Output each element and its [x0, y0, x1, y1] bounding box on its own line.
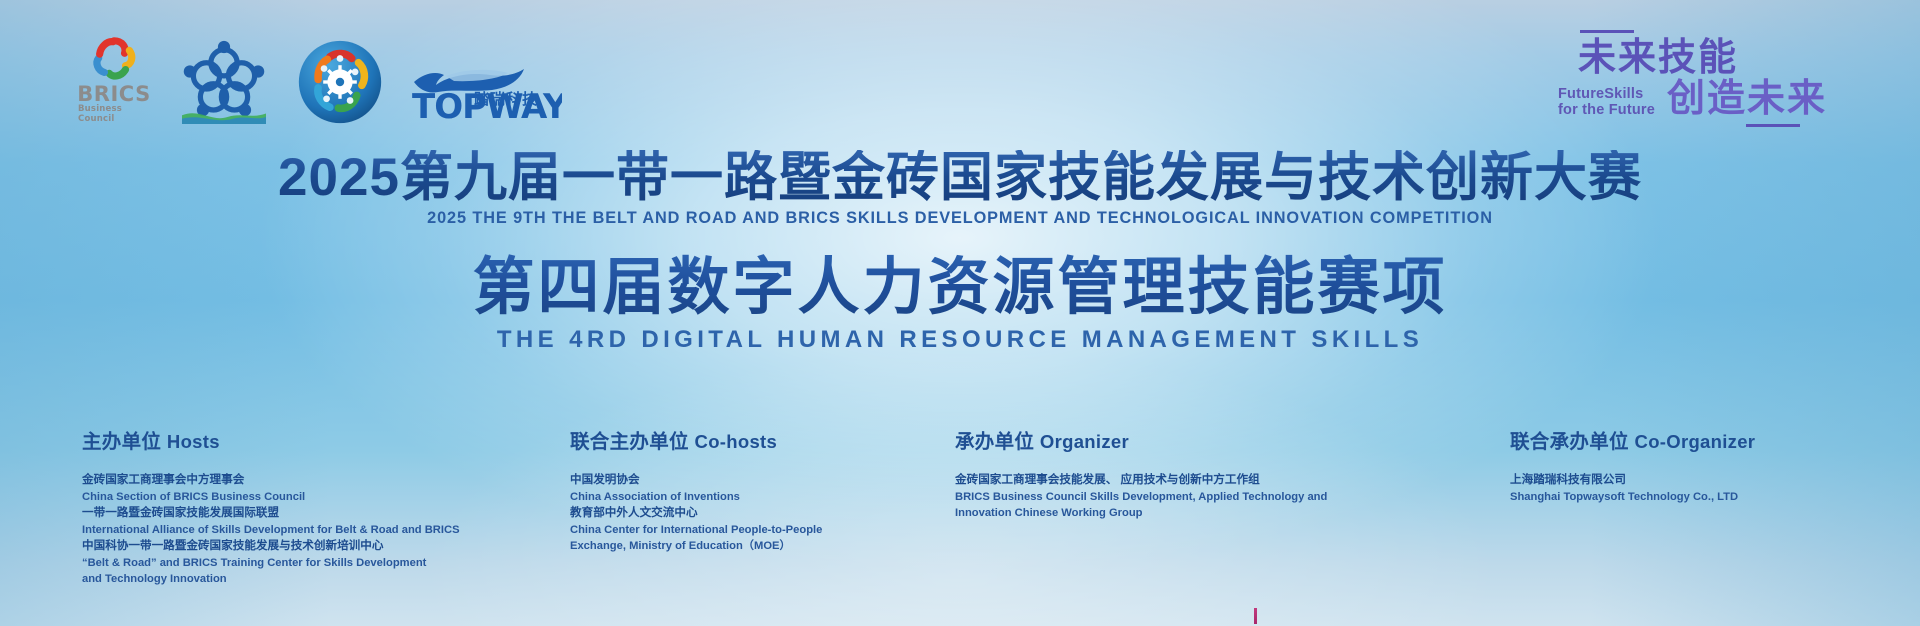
- credit-heading-cn: 联合承办单位: [1510, 431, 1629, 453]
- slogan-cn-line1: 未来技能: [1578, 38, 1858, 78]
- credit-line: China Center for International People-to…: [570, 522, 970, 539]
- topway-logo: TOPWAY 踏瑞科技: [412, 62, 562, 124]
- credit-heading: 主办单位 Hosts: [82, 425, 512, 454]
- slogan-top-rule: [1580, 30, 1634, 33]
- brics-sub-wordmark: Business Council: [78, 104, 150, 124]
- credit-line: 中国发明协会: [570, 472, 970, 489]
- main-title-cn: 2025第九届一带一路暨金砖国家技能发展与技术创新大赛: [0, 150, 1920, 206]
- credit-column-organizer: 承办单位 Organizer 金砖国家工商理事会技能发展、 应用技术与创新中方工…: [955, 425, 1395, 522]
- credit-heading-en: Co-hosts: [695, 431, 778, 452]
- credit-line: China Section of BRICS Business Council: [82, 489, 512, 506]
- credit-line: 中国科协一带一路暨金砖国家技能发展与技术创新培训中心: [82, 538, 512, 555]
- credit-line: “Belt & Road” and BRICS Training Center …: [82, 555, 512, 572]
- credit-heading: 联合承办单位 Co-Organizer: [1510, 425, 1910, 454]
- credit-line: 上海踏瑞科技有限公司: [1510, 472, 1910, 489]
- credit-heading-cn: 主办单位: [82, 431, 161, 453]
- credit-heading-en: Organizer: [1040, 431, 1129, 452]
- slogan-en-line1: FutureSkills: [1558, 86, 1655, 102]
- credit-line: 金砖国家工商理事会技能发展、 应用技术与创新中方工作组: [955, 472, 1395, 489]
- credit-heading-en: Hosts: [167, 431, 220, 452]
- credit-line: 教育部中外人文交流中心: [570, 505, 970, 522]
- credit-heading-en: Co-Organizer: [1635, 431, 1756, 452]
- credit-column-hosts: 主办单位 Hosts 金砖国家工商理事会中方理事会 China Section …: [82, 425, 512, 588]
- logo-row: BRICS Business Council: [78, 36, 562, 124]
- slogan-cn-line2: 创造未来: [1667, 80, 1827, 118]
- slogan-block: 未来技能 FutureSkills for the Future 创造未来: [1558, 30, 1858, 127]
- credit-heading-cn: 承办单位: [955, 431, 1034, 453]
- credit-line: and Technology Innovation: [82, 571, 512, 588]
- subtitle-en: THE 4RD DIGITAL HUMAN RESOURCE MANAGEMEN…: [0, 326, 1920, 354]
- slogan-bottom-rule: [1746, 124, 1800, 127]
- brics-business-council-logo: BRICS Business Council: [78, 36, 150, 124]
- skills-alliance-logo: [180, 40, 268, 124]
- brics-star-icon: [90, 36, 138, 82]
- slogan-en-line2: for the Future: [1558, 102, 1655, 118]
- credit-line: Exchange, Ministry of Education（MOE）: [570, 538, 970, 555]
- credit-heading: 联合主办单位 Co-hosts: [570, 425, 970, 454]
- bottom-center-mark: [1254, 608, 1257, 624]
- credit-heading: 承办单位 Organizer: [955, 425, 1395, 454]
- topway-chinese-name: 踏瑞科技: [474, 88, 538, 109]
- competition-gear-emblem-logo: [298, 40, 382, 124]
- main-title-en: 2025 THE 9TH THE BELT AND ROAD AND BRICS…: [0, 209, 1920, 228]
- credit-line: International Alliance of Skills Develop…: [82, 522, 512, 539]
- credit-line: 一带一路暨金砖国家技能发展国际联盟: [82, 505, 512, 522]
- credit-line: China Association of Inventions: [570, 489, 970, 506]
- credit-line: BRICS Business Council Skills Developmen…: [955, 489, 1395, 506]
- brics-wordmark: BRICS: [77, 84, 150, 104]
- credit-column-co-hosts: 联合主办单位 Co-hosts 中国发明协会 China Association…: [570, 425, 970, 555]
- credit-line: Innovation Chinese Working Group: [955, 505, 1395, 522]
- credit-line: Shanghai Topwaysoft Technology Co., LTD: [1510, 489, 1910, 506]
- credit-line: 金砖国家工商理事会中方理事会: [82, 472, 512, 489]
- credit-column-co-organizer: 联合承办单位 Co-Organizer 上海踏瑞科技有限公司 Shanghai …: [1510, 425, 1910, 505]
- credit-heading-cn: 联合主办单位: [570, 431, 689, 453]
- subtitle-cn: 第四届数字人力资源管理技能赛项: [0, 253, 1920, 323]
- title-block: 2025第九届一带一路暨金砖国家技能发展与技术创新大赛 2025 THE 9TH…: [0, 150, 1920, 354]
